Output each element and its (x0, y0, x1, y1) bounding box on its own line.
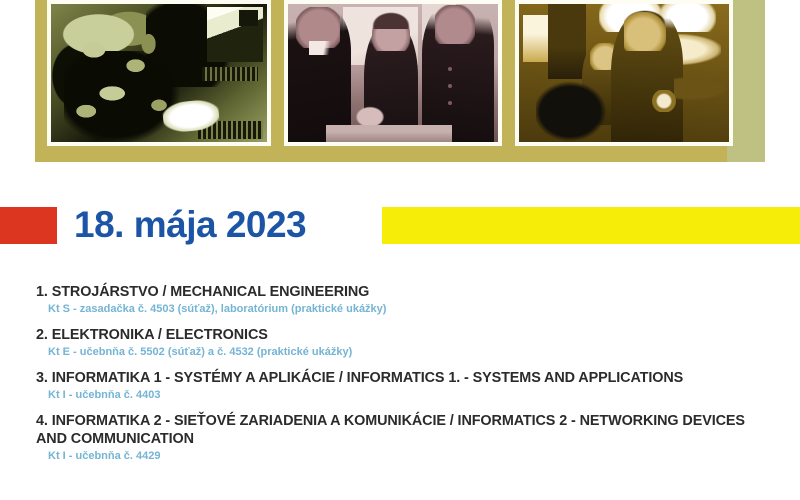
section-title-1: STROJÁRSTVO / MECHANICAL ENGINEERING (52, 284, 370, 300)
section-title-2: ELEKTRONIKA / ELECTRONICS (52, 327, 268, 343)
list-item: 4. INFORMATIKA 2 - SIEŤOVÉ ZARIADENIA A … (0, 412, 800, 464)
section-heading-3: 3. INFORMATIKA 1 - SYSTÉMY A APLIKÁCIE /… (0, 369, 800, 387)
photo3-face-foreground (624, 12, 666, 51)
photo1-monitor-bezel (239, 10, 258, 27)
photo2-uniform-button (448, 101, 452, 105)
photo3-dark-foreground (536, 81, 607, 142)
section-title-4: INFORMATIKA 2 - SIEŤOVÉ ZARIADENIA A KOM… (36, 413, 745, 447)
red-accent-block (0, 207, 57, 244)
photo3-vehicle-pillar (548, 4, 586, 79)
photo-officers-at-desk-image (288, 4, 498, 142)
section-number-1: 1. (36, 284, 48, 300)
section-number-4: 4. (36, 413, 48, 429)
date-row: 18. mája 2023 (0, 207, 800, 247)
section-heading-1: 1. STROJÁRSTVO / MECHANICAL ENGINEERING (0, 283, 800, 301)
section-subtitle-1: Kt S - zasadačka č. 4503 (súťaž), labora… (0, 301, 800, 317)
photo-banner (35, 0, 765, 162)
section-heading-2: 2. ELEKTRONIKA / ELECTRONICS (0, 326, 800, 344)
event-date: 18. mája 2023 (74, 201, 306, 249)
photo1-paper-sheet (162, 98, 221, 134)
section-heading-4: 4. INFORMATIKA 2 - SIEŤOVÉ ZARIADENIA A … (0, 412, 800, 448)
photo2-desk (326, 125, 452, 142)
photo2-head-right (435, 5, 475, 44)
photo-soldiers-in-vehicle (515, 0, 733, 146)
photo1-keyboard-upper (202, 67, 258, 81)
section-subtitle-4: Kt I - učebnňa č. 4429 (0, 448, 800, 464)
list-item: 1. STROJÁRSTVO / MECHANICAL ENGINEERING … (0, 283, 800, 317)
photo2-collar-left (309, 41, 347, 55)
section-subtitle-2: Kt E - učebnňa č. 5502 (súťaž) a č. 4532… (0, 344, 800, 360)
yellow-accent-block (382, 207, 800, 244)
photo-soldiers-in-vehicle-image (519, 4, 729, 142)
photo3-arm-patch-icon (649, 90, 678, 112)
section-title-3: INFORMATIKA 1 - SYSTÉMY A APLIKÁCIE / IN… (52, 370, 683, 386)
photo-soldier-at-computer-image (51, 4, 267, 142)
list-item: 2. ELEKTRONIKA / ELECTRONICS Kt E - učeb… (0, 326, 800, 360)
section-subtitle-3: Kt I - učebnňa č. 4403 (0, 387, 800, 403)
section-list: 1. STROJÁRSTVO / MECHANICAL ENGINEERING … (0, 283, 800, 472)
photo-soldier-at-computer (47, 0, 271, 146)
section-number-2: 2. (36, 327, 48, 343)
photo3-arm (674, 76, 729, 101)
list-item: 3. INFORMATIKA 1 - SYSTÉMY A APLIKÁCIE /… (0, 369, 800, 403)
photo2-uniform-button (448, 84, 452, 88)
section-number-3: 3. (36, 370, 48, 386)
photo-officers-at-desk (284, 0, 502, 146)
photo2-hair-center (372, 12, 410, 29)
